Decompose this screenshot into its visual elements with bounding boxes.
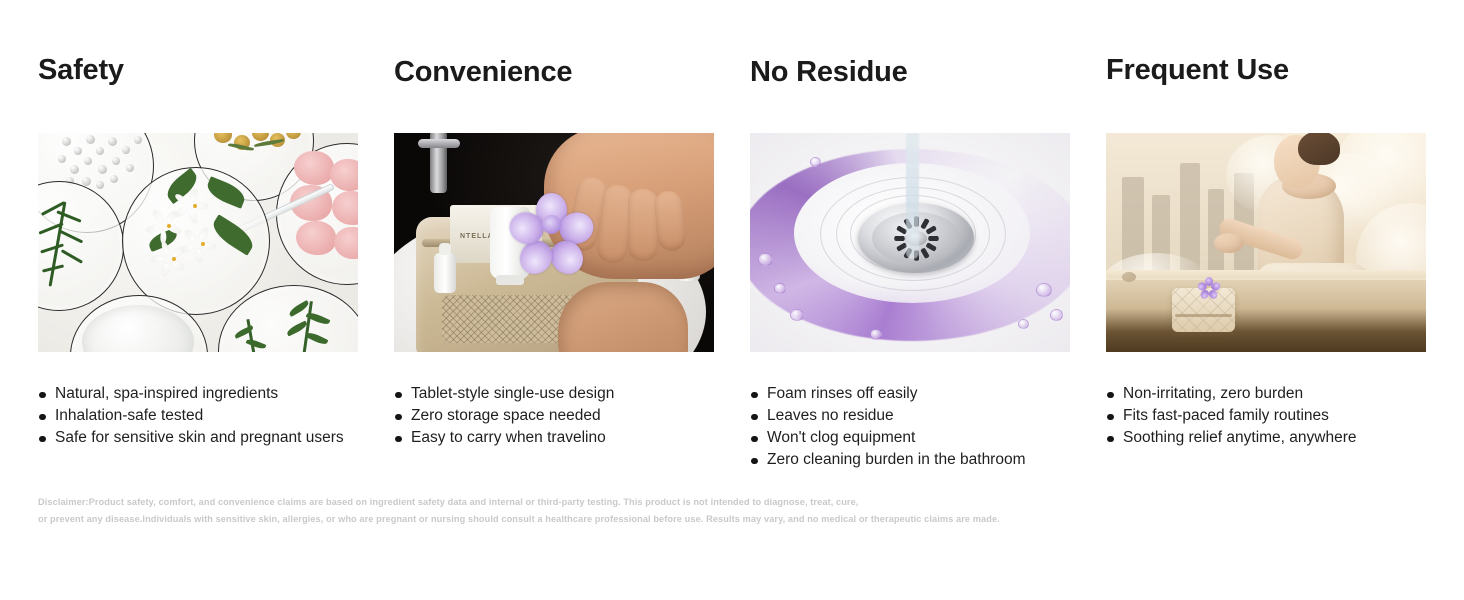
pearl	[96, 181, 104, 189]
pearl	[98, 165, 107, 174]
hand-lower	[558, 282, 688, 352]
bullet-dot-icon	[39, 392, 46, 399]
bullet-dot-icon	[395, 414, 402, 421]
flower-shaped-tablet	[514, 187, 588, 261]
foam-bubble	[870, 329, 882, 340]
bullet-dot-icon	[395, 392, 402, 399]
pearl	[62, 137, 71, 146]
rose-petal	[294, 151, 334, 185]
list-item-label: Non-irritating, zero burden	[1123, 385, 1303, 402]
pearl	[134, 136, 142, 144]
list-item: Zero storage space needed	[394, 405, 714, 427]
jasmine-flower	[160, 245, 188, 273]
bullet-dot-icon	[751, 458, 758, 465]
list-item: Soothing relief anytime, anywhere	[1106, 427, 1426, 449]
faucet	[430, 133, 447, 193]
bullet-dot-icon	[1107, 414, 1114, 421]
drain-slot	[894, 236, 905, 241]
bullet-dot-icon	[39, 436, 46, 443]
list-item: Zero cleaning burden in the bathroom	[750, 449, 1070, 471]
drain-slot	[925, 242, 937, 252]
drain-with-purple-foam-rinsing-photo	[750, 133, 1070, 352]
pearl	[122, 146, 130, 154]
drain-slot	[920, 247, 930, 259]
pump-bottle	[434, 253, 456, 293]
pearl	[126, 164, 134, 172]
pearl	[74, 147, 82, 155]
list-item-label: Won't clog equipment	[767, 429, 915, 446]
pearl	[96, 147, 104, 155]
foam-bubble	[810, 157, 821, 167]
bullet-dot-icon	[751, 392, 758, 399]
column-title-frequent-use: Frequent Use	[1106, 52, 1426, 86]
bullet-dot-icon	[1107, 436, 1114, 443]
jasmine-flower	[180, 191, 210, 221]
foam-bubble	[758, 253, 773, 266]
foam-bubble	[1018, 319, 1029, 329]
finger	[628, 189, 658, 261]
list-item-label: Zero storage space needed	[411, 407, 601, 424]
feature-bullets-convenience: Tablet-style single-use design Zero stor…	[394, 383, 714, 449]
water-stream	[906, 133, 919, 259]
feature-bullets-no-residue: Foam rinses off easily Leaves no residue…	[750, 383, 1070, 471]
feature-bullets-safety: Natural, spa-inspired ingredients Inhala…	[38, 383, 358, 449]
list-item: Leaves no residue	[750, 405, 1070, 427]
bullet-dot-icon	[1107, 392, 1114, 399]
feature-column-no-residue: No Residue	[750, 52, 1070, 471]
bag-zipper	[1175, 314, 1232, 317]
tub-faucet	[1122, 272, 1136, 282]
foam-bubble	[774, 283, 786, 294]
bullet-dot-icon	[395, 436, 402, 443]
pearl	[58, 155, 66, 163]
woman-in-towel-steamy-bathroom-photo	[1106, 133, 1426, 352]
pearl	[110, 175, 118, 183]
list-item-label: Easy to carry when travelino	[411, 429, 606, 446]
pearl	[82, 177, 91, 186]
feature-column-convenience: Convenience NTELLA	[394, 52, 714, 471]
jasmine-flower	[188, 229, 218, 259]
disclaimer: Disclaimer:Product safety, comfort, and …	[38, 494, 1068, 527]
hair-bun	[1298, 133, 1340, 165]
feature-column-frequent-use: Frequent Use	[1106, 52, 1426, 471]
tablet-center	[542, 215, 561, 234]
hand	[1214, 233, 1244, 253]
carton-label: NTELLA	[460, 233, 494, 240]
hand-holding-tablet-over-toiletry-bag-photo: NTELLA	[394, 133, 714, 352]
list-item: Inhalation-safe tested	[38, 405, 358, 427]
list-item-label: Zero cleaning burden in the bathroom	[767, 451, 1026, 468]
list-item: Tablet-style single-use design	[394, 383, 714, 405]
drain-slot	[928, 236, 939, 241]
bullet-dot-icon	[751, 414, 758, 421]
foam-bubble	[1036, 283, 1052, 297]
column-title-safety: Safety	[38, 52, 358, 86]
pearl	[86, 135, 95, 144]
list-item: Won't clog equipment	[750, 427, 1070, 449]
list-item-label: Inhalation-safe tested	[55, 407, 203, 424]
pearl	[84, 157, 92, 165]
jasmine-flower	[154, 211, 184, 241]
drain-slot	[920, 217, 930, 229]
feature-column-safety: Safety	[38, 52, 358, 471]
list-item-label: Foam rinses off easily	[767, 385, 917, 402]
pearl	[108, 137, 117, 146]
list-item: Easy to carry when travelino	[394, 427, 714, 449]
list-item-label: Safe for sensitive skin and pregnant use…	[55, 429, 344, 446]
petri-dishes-botanical-ingredients-photo	[38, 133, 358, 352]
column-title-convenience: Convenience	[394, 52, 714, 88]
list-item: Natural, spa-inspired ingredients	[38, 383, 358, 405]
pearl	[112, 157, 120, 165]
list-item: Safe for sensitive skin and pregnant use…	[38, 427, 358, 449]
flower-shaped-tablet	[1200, 276, 1218, 294]
list-item: Foam rinses off easily	[750, 383, 1070, 405]
foam-bubble	[790, 309, 804, 321]
feature-bullets-frequent-use: Non-irritating, zero burden Fits fast-pa…	[1106, 383, 1426, 449]
bullet-dot-icon	[39, 414, 46, 421]
disclaimer-line-2: or prevent any disease.Individuals with …	[38, 511, 1068, 528]
list-item-label: Leaves no residue	[767, 407, 894, 424]
bullet-dot-icon	[751, 436, 758, 443]
feature-comparison-board: Safety	[0, 0, 1464, 600]
pearl	[70, 165, 79, 174]
rose-petal	[296, 221, 336, 255]
disclaimer-line-1: Disclaimer:Product safety, comfort, and …	[38, 494, 1068, 511]
list-item-label: Tablet-style single-use design	[411, 385, 614, 402]
tube-cap	[496, 275, 524, 285]
list-item-label: Natural, spa-inspired ingredients	[55, 385, 278, 402]
list-item-label: Soothing relief anytime, anywhere	[1123, 429, 1357, 446]
list-item: Non-irritating, zero burden	[1106, 383, 1426, 405]
tub-ledge	[1106, 280, 1426, 352]
foam-bubble	[1050, 309, 1063, 321]
column-title-no-residue: No Residue	[750, 52, 1070, 88]
drain-slot	[925, 225, 937, 235]
list-item: Fits fast-paced family routines	[1106, 405, 1426, 427]
feature-columns: Safety	[38, 52, 1426, 471]
list-item-label: Fits fast-paced family routines	[1123, 407, 1329, 424]
